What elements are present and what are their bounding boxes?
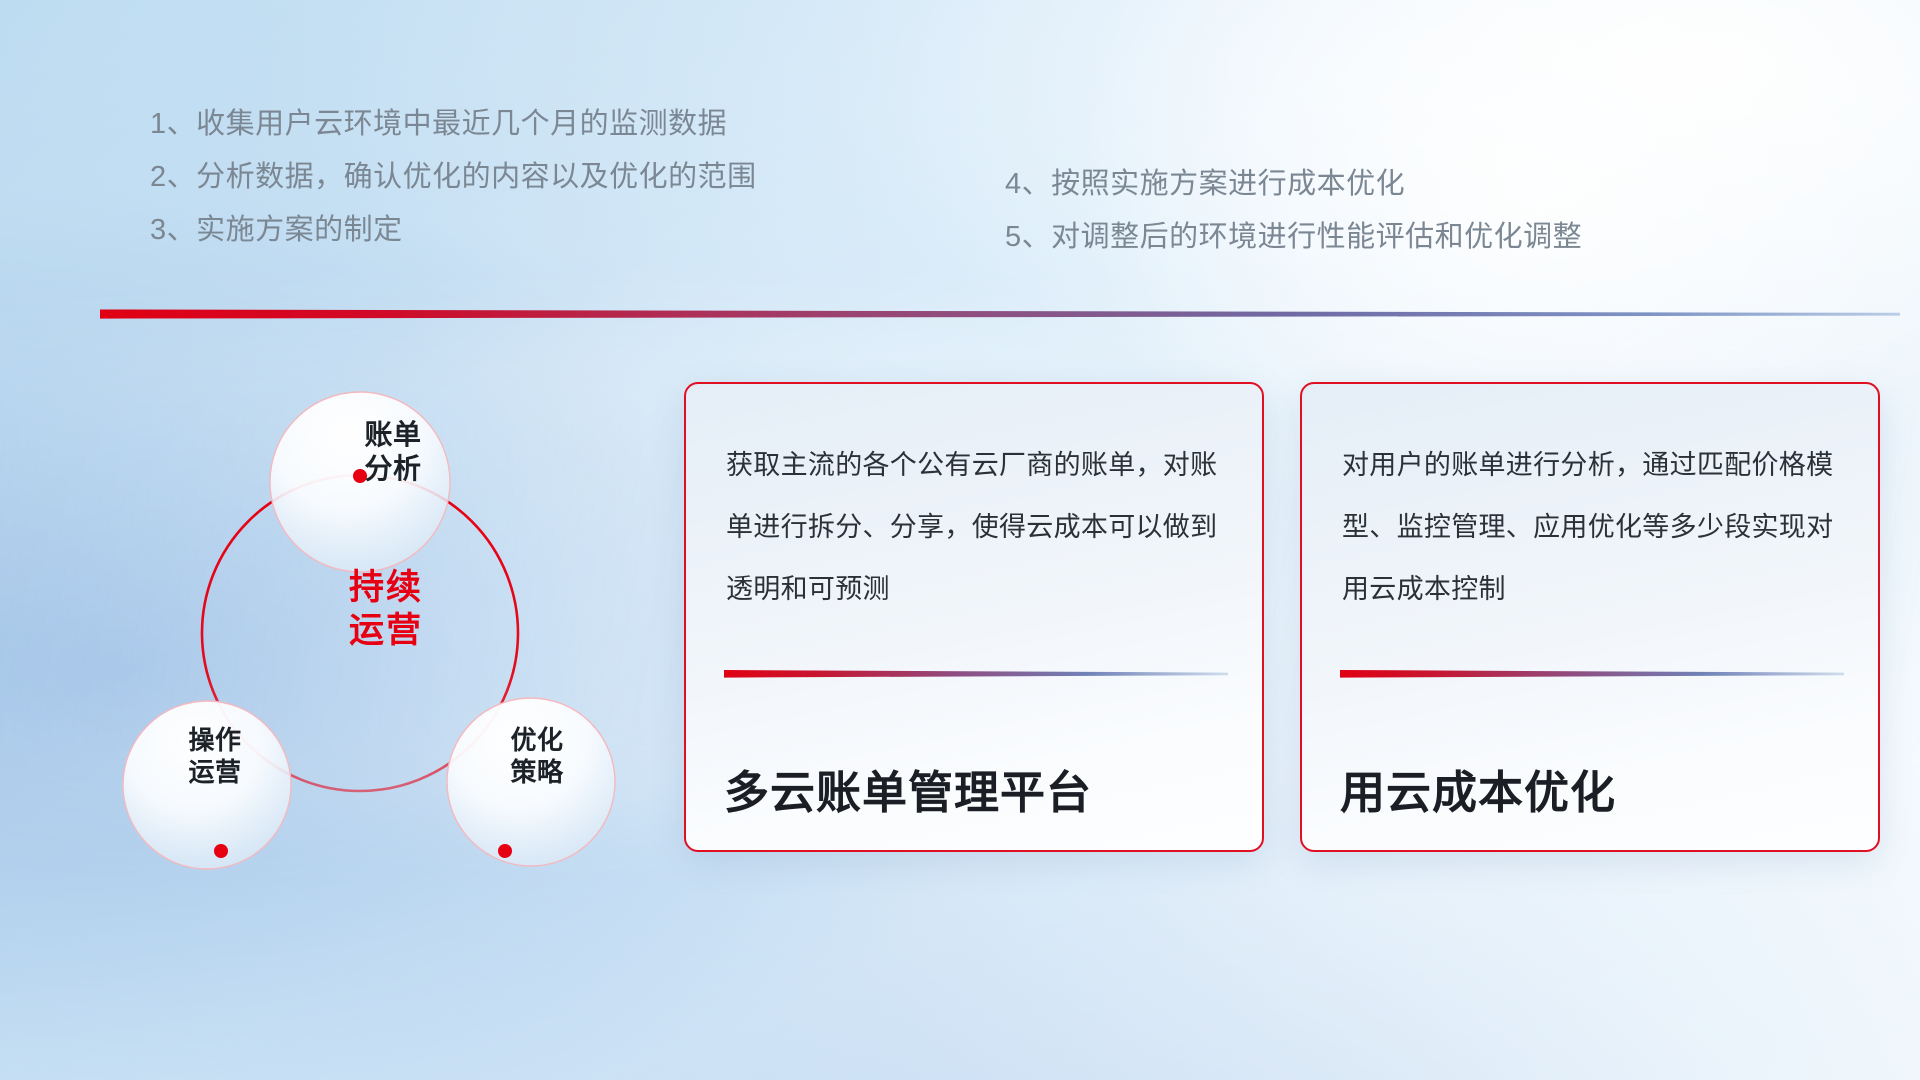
card-2-gradient-divider: [1340, 669, 1844, 678]
top-gradient-divider: [100, 308, 1900, 319]
card-cloud-cost-optimization[interactable]: 对用户的账单进行分析，通过匹配价格模型、监控管理、应用优化等多少段实现对用云成本…: [1300, 382, 1880, 852]
venn-connector-left: [214, 844, 228, 858]
venn-label-ops-operations: 操作 运营: [125, 725, 305, 788]
step-item-1: 1、收集用户云环境中最近几个月的监测数据: [150, 98, 757, 151]
step-item-2: 2、分析数据，确认优化的内容以及优化的范围: [150, 151, 757, 204]
card-multi-cloud-billing-platform[interactable]: 获取主流的各个公有云厂商的账单，对账单进行拆分、分享，使得云成本可以做到透明和可…: [684, 382, 1264, 852]
steps-right-column: 4、按照实施方案进行成本优化 5、对调整后的环境进行性能评估和优化调整: [1005, 158, 1582, 264]
venn-label-center: 持续 运营: [281, 567, 491, 652]
venn-connector-right: [498, 844, 512, 858]
card-1-gradient-divider: [724, 669, 1228, 678]
step-item-5: 5、对调整后的环境进行性能评估和优化调整: [1005, 211, 1582, 264]
step-item-4: 4、按照实施方案进行成本优化: [1005, 158, 1582, 211]
venn-label-billing-analysis: 账单 分析: [303, 418, 483, 486]
card-2-title: 用云成本优化: [1340, 756, 1848, 821]
venn-label-optimization-policy: 优化 策略: [447, 725, 627, 788]
steps-left-column: 1、收集用户云环境中最近几个月的监测数据 2、分析数据，确认优化的内容以及优化的…: [150, 98, 757, 257]
venn-diagram: 账单 分析 操作 运营 优化 策略 持续 运营: [95, 355, 625, 935]
slide-canvas: 1、收集用户云环境中最近几个月的监测数据 2、分析数据，确认优化的内容以及优化的…: [0, 0, 1920, 1080]
card-1-body: 获取主流的各个公有云厂商的账单，对账单进行拆分、分享，使得云成本可以做到透明和可…: [726, 434, 1232, 620]
card-1-title: 多云账单管理平台: [724, 756, 1232, 821]
step-item-3: 3、实施方案的制定: [150, 204, 757, 257]
card-2-body: 对用户的账单进行分析，通过匹配价格模型、监控管理、应用优化等多少段实现对用云成本…: [1342, 434, 1848, 620]
